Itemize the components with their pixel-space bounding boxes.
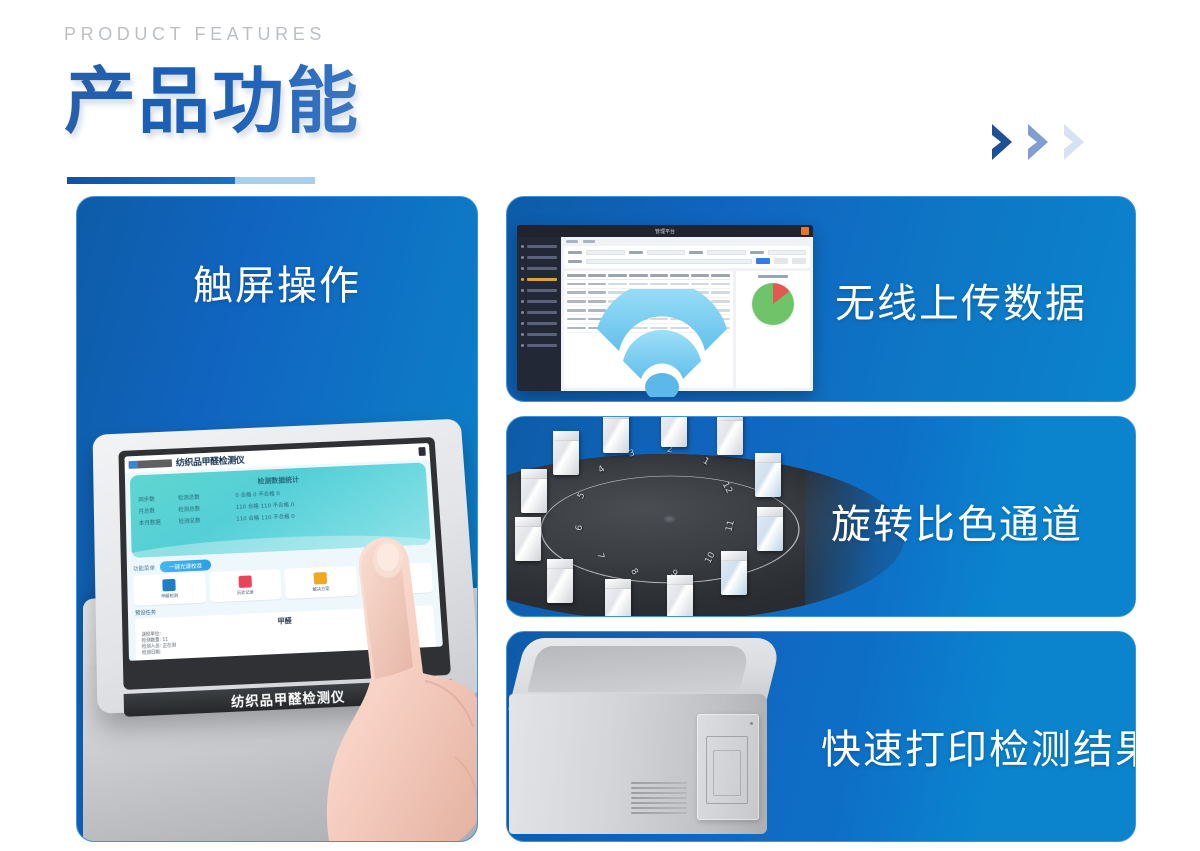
app-tile-detect[interactable]: 甲醛检测 (133, 573, 206, 606)
sidebar-item[interactable] (521, 340, 557, 351)
sidebar-item[interactable] (521, 318, 557, 329)
stats-panel: 检测数据统计 同步数 检测总数 0 合格 0 不合格 0 月总数 检测总数 11… (130, 462, 431, 557)
stats-cell-a: 本月数据 (139, 518, 173, 527)
function-menu-label: 功能菜单 (133, 563, 155, 572)
battery-icon (418, 447, 425, 456)
table-row[interactable] (567, 280, 730, 289)
bullet-icon (521, 245, 524, 248)
printer-paper-tray (697, 714, 759, 820)
search-button[interactable] (756, 258, 770, 264)
card-label-wireless-upload: 无线上传数据 (835, 271, 1087, 329)
history-icon (238, 575, 252, 588)
cuvette (667, 575, 693, 616)
feature-card-rotating-channel[interactable]: 1 2 3 4 5 6 7 8 9 10 11 12 (506, 416, 1136, 617)
window-title-bar: 管理平台 (517, 225, 813, 237)
display-title: 纺织品甲醛检测仪 (176, 453, 245, 469)
sidebar-item[interactable] (521, 252, 557, 263)
device-screen-panel: 纺织品甲醛检测仪 检测数据统计 同步数 检测总数 0 合格 0 不合格 0 (93, 419, 478, 714)
pass-rate-pie-chart (736, 271, 810, 388)
app-caption: 解决方案 (313, 586, 330, 593)
sidebar-item[interactable] (521, 285, 557, 296)
bullet-icon (521, 322, 524, 325)
chevron-group (988, 122, 1088, 162)
chevron-right-icon-2 (1024, 122, 1052, 162)
wifi-icon (587, 289, 737, 397)
bullet-icon (521, 267, 524, 270)
pie-chart-graphic (752, 283, 794, 325)
chevron-right-icon-1 (988, 122, 1016, 162)
alert-icon (801, 227, 809, 235)
card-label-rotating-channel: 旋转比色通道 (831, 492, 1083, 550)
cuvette (521, 469, 547, 513)
app-tile-history[interactable]: 历史记录 (209, 569, 282, 602)
app-caption: 系统设置 (388, 582, 405, 589)
app-tile-solution[interactable]: 解决方案 (284, 566, 357, 599)
app-tile-settings[interactable]: 系统设置 (360, 562, 433, 595)
dashboard-sidebar (517, 237, 561, 391)
sidebar-item[interactable] (521, 241, 557, 252)
chart-title (758, 275, 788, 278)
window-title: 管理平台 (655, 228, 675, 235)
display-content: 纺织品甲醛检测仪 检测数据统计 同步数 检测总数 0 合格 0 不合格 0 (124, 443, 442, 661)
filter-row (568, 250, 806, 255)
filter-input[interactable] (586, 250, 625, 255)
brand-logo-icon (129, 459, 173, 469)
scan-icon (163, 579, 176, 592)
sidebar-item[interactable] (521, 307, 557, 318)
printer-lid-recess (527, 646, 750, 692)
filter-input[interactable] (768, 250, 807, 255)
sidebar-item[interactable] (521, 329, 557, 340)
indicator-dot-icon (750, 722, 753, 725)
display-datetime (411, 450, 412, 454)
bullet-icon (521, 300, 524, 303)
calibrate-button[interactable]: 一键光谱校准 (160, 559, 211, 572)
feature-card-grid: 触屏操作 纺织品甲醛检测仪 检测数据 (76, 196, 1136, 842)
app-caption: 甲醛检测 (161, 593, 178, 600)
app-caption: 历史记录 (237, 589, 254, 596)
card-label-fast-print: 快速打印检测结果 (821, 717, 1136, 775)
filter-input[interactable] (647, 250, 686, 255)
cuvette (755, 453, 781, 497)
cuvette (721, 551, 747, 595)
title-underline (67, 177, 315, 184)
chevron-right-icon-3 (1060, 122, 1088, 162)
cuvette (605, 579, 631, 616)
sidebar-item[interactable] (521, 263, 557, 274)
printer-vent (631, 782, 687, 814)
folder-icon (314, 572, 328, 585)
cuvette (515, 517, 541, 561)
bullet-icon (521, 333, 524, 336)
card-label-touchscreen: 触屏操作 (77, 253, 477, 311)
sidebar-item[interactable] (521, 296, 557, 307)
stats-cell-c: 110 合格 110 不合格 0 (236, 506, 421, 522)
device-nameplate-text: 纺织品甲醛检测仪 (231, 685, 346, 710)
stats-cell-b: 检测总数 (179, 515, 231, 525)
filter-row (568, 258, 806, 264)
cuvette (553, 431, 579, 475)
feature-card-touchscreen[interactable]: 触屏操作 纺织品甲醛检测仪 检测数据 (76, 196, 478, 842)
underline-segment-dark (67, 177, 235, 184)
sidebar-item-active[interactable] (521, 274, 557, 285)
page-title: 产品功能 (64, 59, 360, 143)
export-button[interactable] (792, 258, 806, 264)
bullet-icon (521, 278, 524, 281)
bullet-icon (521, 311, 524, 314)
filter-toolbar (564, 246, 810, 268)
gear-icon (389, 569, 403, 582)
underline-segment-light (235, 177, 315, 184)
feature-card-fast-print[interactable]: 快速打印检测结果 (506, 631, 1136, 842)
feature-card-wireless-upload[interactable]: 管理平台 (506, 196, 1136, 402)
cuvette (717, 417, 743, 455)
carousel-hub (663, 515, 676, 523)
filter-input[interactable] (707, 250, 746, 255)
cuvette (661, 417, 687, 447)
page-header: PRODUCT FEATURES 产品功能 (64, 22, 1136, 192)
bullet-icon (521, 256, 524, 259)
reset-button[interactable] (774, 258, 788, 264)
header-eyebrow: PRODUCT FEATURES (64, 22, 1136, 46)
display-footer-line2: 仪器编号: 11020208 版本号: V2.0 (129, 659, 443, 661)
bullet-icon (521, 289, 524, 292)
channel-number: 3 (628, 448, 636, 459)
cuvette (547, 559, 573, 603)
device-display: 纺织品甲醛检测仪 检测数据统计 同步数 检测总数 0 合格 0 不合格 0 (118, 437, 451, 690)
dashboard-tabs[interactable] (564, 240, 810, 243)
cuvette (757, 507, 783, 551)
cuvette (603, 417, 629, 453)
filter-input[interactable] (586, 259, 752, 264)
product-features-page: PRODUCT FEATURES 产品功能 触屏操作 (0, 0, 1200, 851)
bullet-icon (521, 344, 524, 347)
